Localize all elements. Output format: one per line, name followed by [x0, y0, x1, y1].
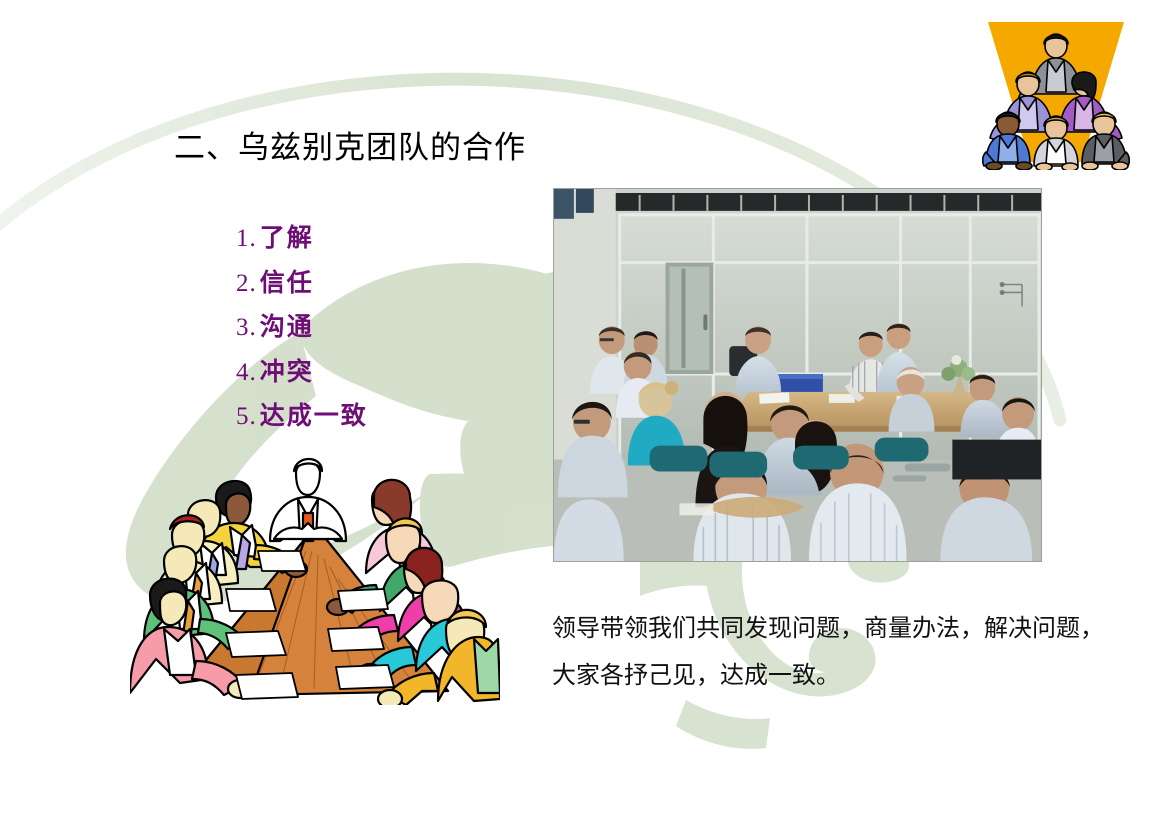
list-item-number: 5.: [236, 403, 257, 430]
list-item-number: 3.: [236, 314, 257, 341]
slide-title: 二、乌兹别克团队的合作: [174, 128, 526, 168]
list-item-label: 冲突: [260, 357, 314, 386]
meeting-room-photograph: [553, 188, 1042, 562]
list-item: 2.信任: [236, 261, 368, 306]
list-item-label: 信任: [260, 268, 314, 297]
list-item-number: 2.: [236, 270, 257, 297]
list-item: 1.了解: [236, 216, 368, 261]
list-item-number: 1.: [236, 225, 257, 252]
numbered-list: 1.了解 2.信任 3.沟通 4.冲突 5.达成一致: [236, 216, 368, 439]
list-item: 3.沟通: [236, 305, 368, 350]
conference-table-clipart: [130, 443, 500, 705]
list-item-number: 4.: [236, 359, 257, 386]
team-pyramid-logo: [982, 12, 1130, 170]
list-item: 5.达成一致: [236, 394, 368, 439]
list-item: 4.冲突: [236, 350, 368, 395]
list-item-label: 达成一致: [260, 401, 368, 430]
list-item-label: 了解: [260, 223, 314, 252]
slide-canvas: 二、乌兹别克团队的合作 1.了解 2.信任 3.沟通 4.冲突 5.达成一致: [0, 0, 1169, 827]
caption-line-2: 大家各抒己见，达成一致。: [552, 653, 1082, 700]
photo-caption: 领导带领我们共同发现问题，商量办法，解决问题， 大家各抒己见，达成一致。: [552, 606, 1082, 700]
list-item-label: 沟通: [260, 312, 314, 341]
caption-line-1: 领导带领我们共同发现问题，商量办法，解决问题，: [552, 606, 1082, 653]
